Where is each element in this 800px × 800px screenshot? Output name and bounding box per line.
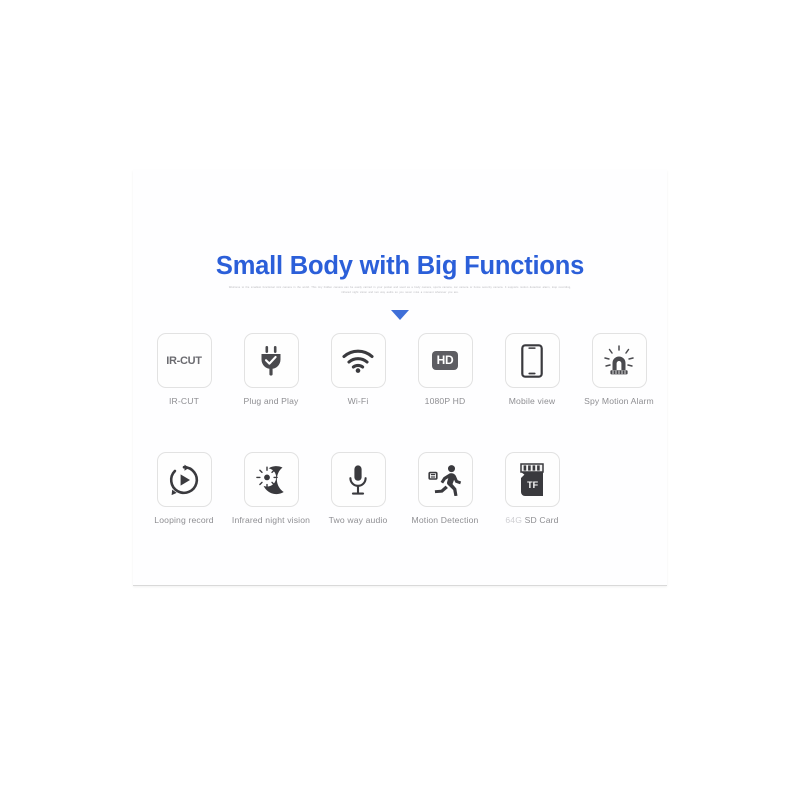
page-canvas: Small Body with Big Functions Welcome to… <box>0 0 800 800</box>
feature-label: 1080P HD <box>402 395 488 407</box>
feature-label: IR-CUT <box>141 395 227 407</box>
feature-item-ir-cut[interactable]: IR-CUT IR-CUT <box>141 333 227 407</box>
feature-item-wifi[interactable]: Wi-Fi <box>315 333 401 407</box>
feature-label: Spy Motion Alarm <box>576 395 662 407</box>
tf-sd-card-icon: TF <box>518 463 546 497</box>
running-person-icon <box>428 464 462 496</box>
wifi-tile <box>331 333 386 388</box>
feature-grid: IR-CUT IR-CUT <box>133 170 667 585</box>
feature-item-spy-motion-alarm[interactable]: Spy Motion Alarm <box>576 333 662 407</box>
feature-panel: Small Body with Big Functions Welcome to… <box>133 170 667 586</box>
siren-alarm-icon <box>602 345 636 377</box>
loop-play-icon <box>168 464 200 496</box>
infrared-night-vision-tile <box>244 452 299 507</box>
feature-label: Motion Detection <box>402 514 488 526</box>
feature-label: Looping record <box>141 514 227 526</box>
ir-cut-icon: IR-CUT <box>166 355 201 367</box>
smartphone-icon <box>521 344 543 378</box>
wifi-icon <box>341 348 375 374</box>
looping-record-tile <box>157 452 212 507</box>
microphone-icon <box>347 464 369 496</box>
svg-text:TF: TF <box>527 480 538 490</box>
hd-badge-icon: HD <box>432 351 459 370</box>
spy-motion-alarm-tile <box>592 333 647 388</box>
feature-label: Infrared night vision <box>228 514 314 526</box>
moon-night-icon <box>254 464 288 496</box>
feature-label: 64G SD Card <box>489 514 575 526</box>
feature-item-infrared-night-vision[interactable]: Infrared night vision <box>228 452 314 526</box>
sd-card-capacity-prefix: 64G <box>505 515 522 525</box>
feature-item-mobile-view[interactable]: Mobile view <box>489 333 575 407</box>
power-plug-icon <box>256 345 286 377</box>
sd-card-label-text: SD Card <box>525 515 559 525</box>
feature-label: Two way audio <box>315 514 401 526</box>
plug-and-play-tile <box>244 333 299 388</box>
ir-cut-tile: IR-CUT <box>157 333 212 388</box>
sd-card-tile: TF <box>505 452 560 507</box>
feature-label: Mobile view <box>489 395 575 407</box>
feature-item-looping-record[interactable]: Looping record <box>141 452 227 526</box>
feature-label: Wi-Fi <box>315 395 401 407</box>
feature-item-motion-detection[interactable]: Motion Detection <box>402 452 488 526</box>
feature-label: Plug and Play <box>228 395 314 407</box>
feature-item-two-way-audio[interactable]: Two way audio <box>315 452 401 526</box>
hd-tile: HD <box>418 333 473 388</box>
mobile-view-tile <box>505 333 560 388</box>
feature-item-plug-and-play[interactable]: Plug and Play <box>228 333 314 407</box>
motion-detection-tile <box>418 452 473 507</box>
two-way-audio-tile <box>331 452 386 507</box>
feature-item-hd[interactable]: HD 1080P HD <box>402 333 488 407</box>
feature-item-sd-card[interactable]: TF 64G SD Card <box>489 452 575 526</box>
